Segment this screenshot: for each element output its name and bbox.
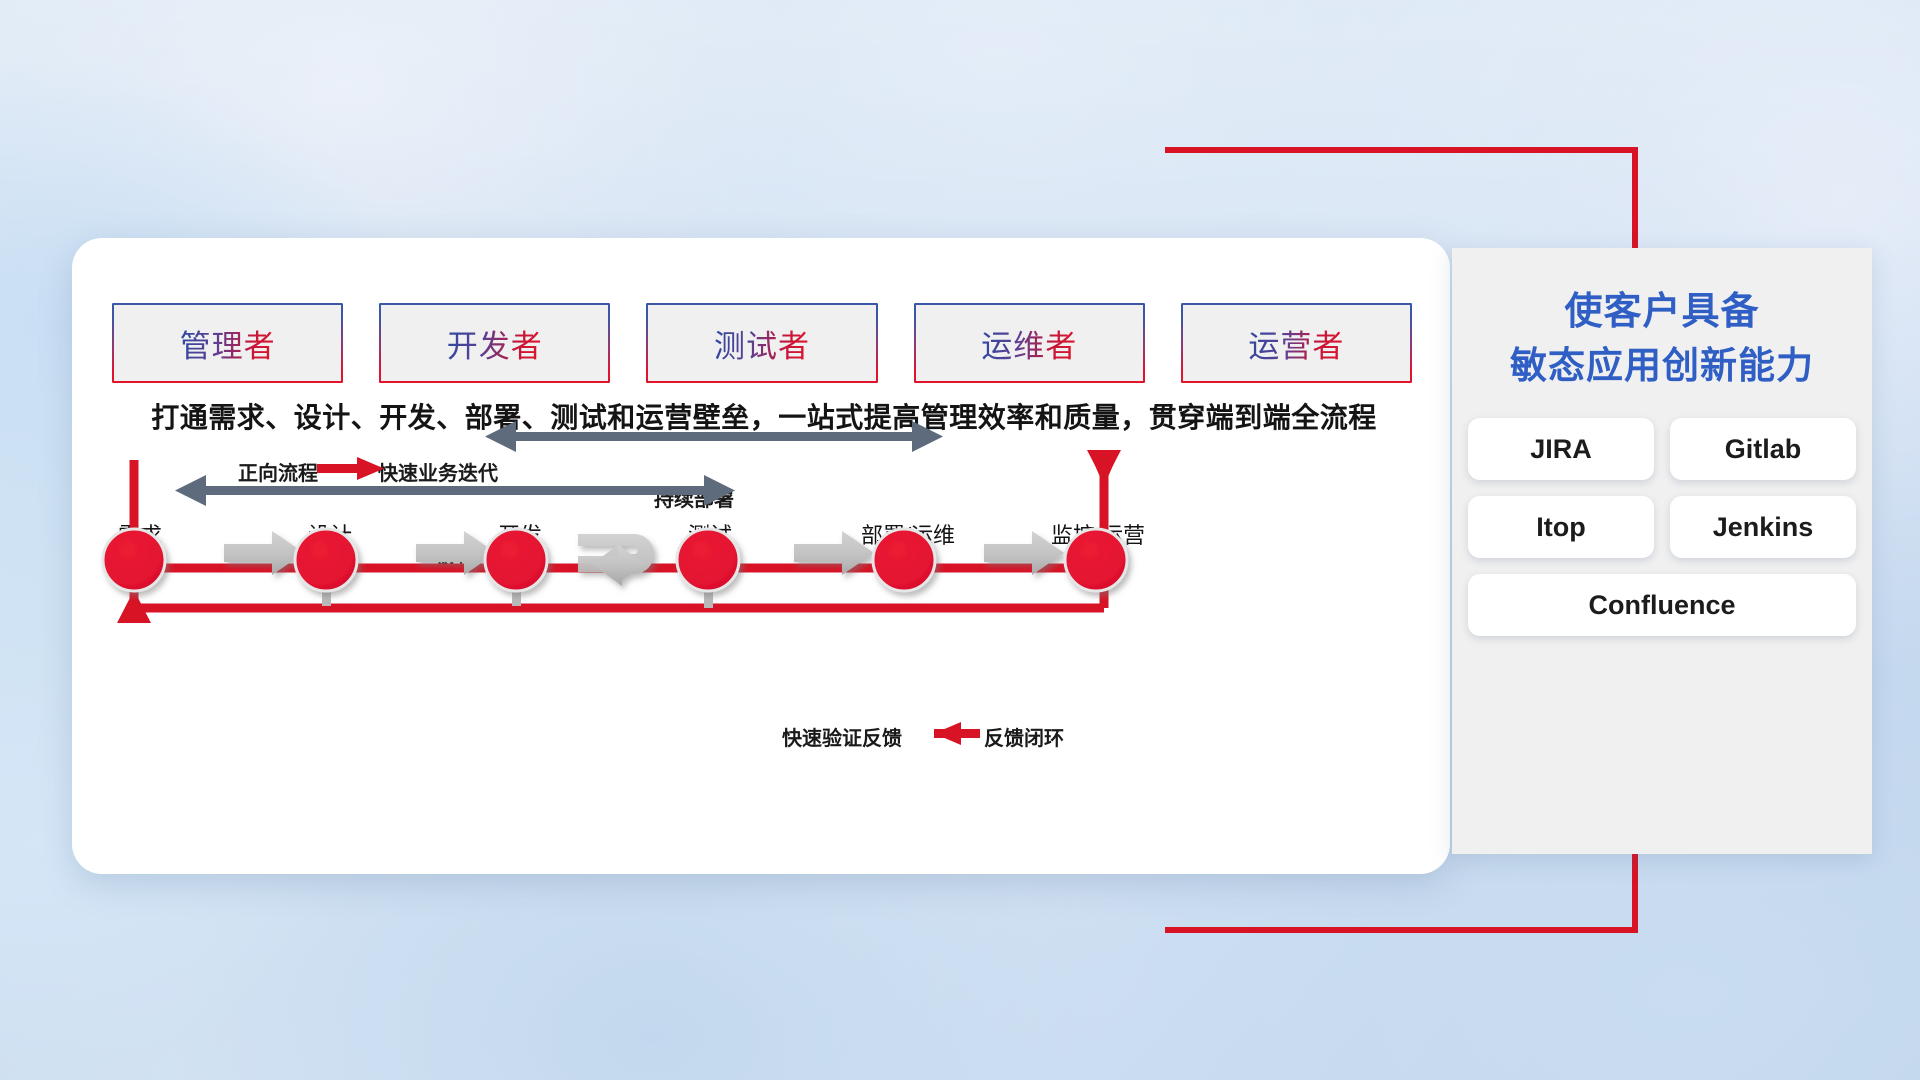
main-diagram-card: 管理者 开发者 测试者 运维者 运营者 打通需求、设计、开发、部署、测试和运营壁… [72, 238, 1450, 874]
feedback-arrow-icon [934, 722, 980, 745]
panel-title-line2: 敏态应用创新能力 [1452, 340, 1872, 393]
stage-circle-monitor-operate [1065, 529, 1127, 591]
block-arrow-development-testing-loop [578, 534, 654, 586]
loop-arrowhead-down [1087, 450, 1121, 483]
stage-circle-requirement [103, 529, 165, 591]
continuous-deploy-double-arrow [485, 421, 943, 452]
stage-circle-testing [677, 529, 739, 591]
tool-button-jira[interactable]: JIRA [1468, 418, 1654, 480]
capability-panel: 使客户具备 敏态应用创新能力 JIRA Gitlab Itop Jenkins … [1452, 248, 1872, 854]
panel-title-line1: 使客户具备 [1452, 286, 1872, 340]
stage-circle-development [485, 529, 547, 591]
feedback-loop-path [134, 454, 1118, 608]
tool-button-itop[interactable]: Itop [1468, 496, 1654, 558]
panel-title: 使客户具备 敏态应用创新能力 [1452, 286, 1872, 392]
forward-flow-arrow-icon [317, 457, 384, 480]
stage-circle-deploy-ops [873, 529, 935, 591]
tool-button-grid: JIRA Gitlab Itop Jenkins Confluence [1468, 418, 1856, 636]
tool-button-jenkins[interactable]: Jenkins [1670, 496, 1856, 558]
process-flow-graphics [72, 238, 1450, 874]
stage-circle-design [295, 529, 357, 591]
agile-double-arrow [175, 475, 735, 506]
tool-button-gitlab[interactable]: Gitlab [1670, 418, 1856, 480]
tool-button-confluence[interactable]: Confluence [1468, 574, 1856, 636]
